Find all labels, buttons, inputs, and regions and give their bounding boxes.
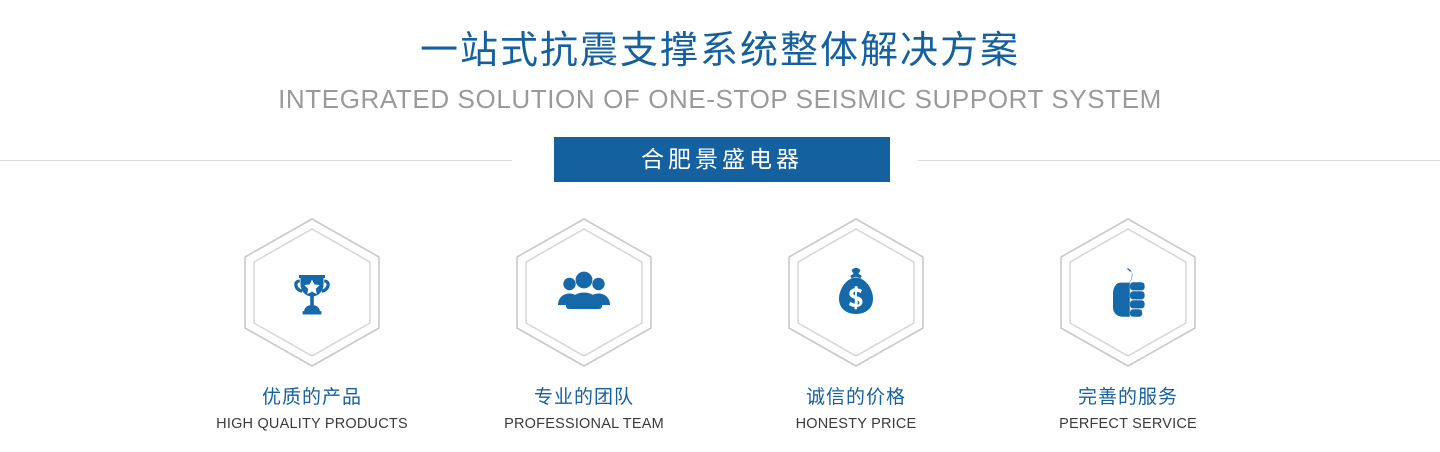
- money-bag-icon: [832, 266, 880, 320]
- divider-line-left: [0, 160, 512, 161]
- hexagon-frame: [781, 215, 931, 370]
- feature-item-professional-team: 专业的团队 PROFESSIONAL TEAM: [448, 215, 720, 434]
- trophy-icon: [286, 267, 338, 319]
- feature-list: 优质的产品 HIGH QUALITY PRODUCTS: [0, 215, 1440, 435]
- hexagon-frame: [1053, 215, 1203, 370]
- feature-label-cn: 诚信的价格: [806, 386, 906, 410]
- feature-label-en: PROFESSIONAL TEAM: [504, 415, 664, 434]
- heading-block: 一站式抗震支撑系统整体解决方案 INTEGRATED SOLUTION OF O…: [0, 0, 1440, 115]
- page-title: 一站式抗震支撑系统整体解决方案: [0, 28, 1440, 74]
- feature-label-cn: 完善的服务: [1078, 386, 1178, 410]
- thumbs-up-icon: [1104, 266, 1152, 320]
- hexagon-frame: [509, 215, 659, 370]
- feature-item-honesty-price: 诚信的价格 HONESTY PRICE: [720, 215, 992, 434]
- feature-item-perfect-service: 完善的服务 PERFECT SERVICE: [992, 215, 1264, 434]
- team-people-icon: [556, 267, 612, 319]
- divider-line-right: [918, 160, 1440, 161]
- page-subtitle: INTEGRATED SOLUTION OF ONE-STOP SEISMIC …: [0, 83, 1440, 115]
- feature-label-en: PERFECT SERVICE: [1059, 415, 1197, 434]
- hexagon-frame: [237, 215, 387, 370]
- feature-label-en: HIGH QUALITY PRODUCTS: [216, 415, 408, 434]
- company-name-badge: 合肥景盛电器: [554, 137, 890, 182]
- feature-item-high-quality-products: 优质的产品 HIGH QUALITY PRODUCTS: [176, 215, 448, 434]
- feature-label-cn: 专业的团队: [534, 386, 634, 410]
- feature-label-en: HONESTY PRICE: [796, 415, 917, 434]
- company-name-label: 合肥景盛电器: [641, 137, 803, 182]
- promo-banner: 一站式抗震支撑系统整体解决方案 INTEGRATED SOLUTION OF O…: [0, 0, 1440, 452]
- feature-label-cn: 优质的产品: [262, 386, 362, 410]
